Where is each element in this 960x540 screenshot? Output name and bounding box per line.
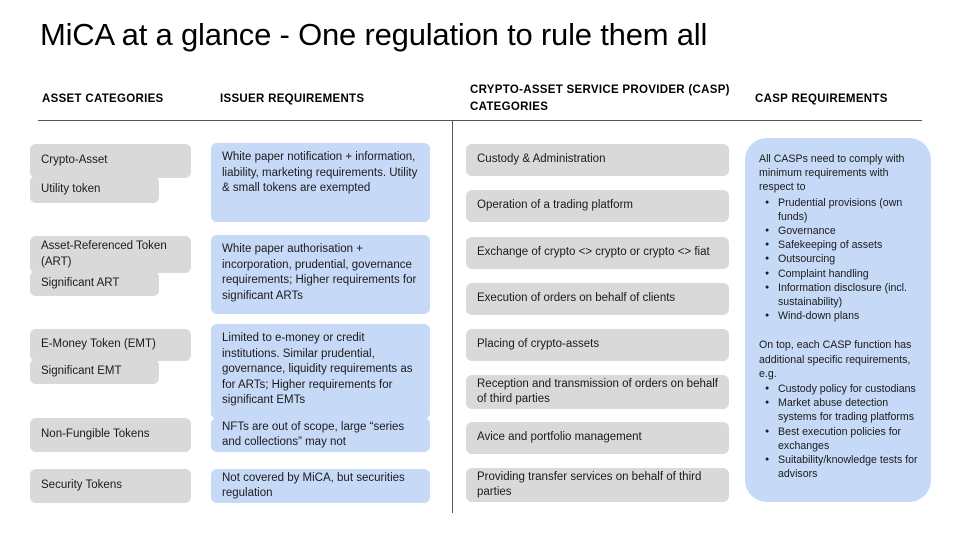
list-item: Best execution policies for exchanges bbox=[778, 425, 922, 453]
issuer-requirement-box[interactable]: Not covered by MiCA, but securities regu… bbox=[211, 469, 430, 503]
casp-category-label: Providing transfer services on behalf of… bbox=[477, 470, 718, 501]
list-item: Outsourcing bbox=[778, 252, 922, 266]
asset-subcategory-label: Significant EMT bbox=[41, 364, 122, 380]
casp-requirements-panel[interactable]: All CASPs need to comply with minimum re… bbox=[745, 138, 931, 502]
casp-category-label: Reception and transmission of orders on … bbox=[477, 377, 718, 408]
asset-category-main-box[interactable]: E-Money Token (EMT) bbox=[30, 329, 191, 361]
asset-category-main-box[interactable]: Security Tokens bbox=[30, 469, 191, 503]
horizontal-divider bbox=[38, 120, 922, 121]
asset-subcategory-label: Significant ART bbox=[41, 276, 119, 292]
issuer-requirement-box[interactable]: Limited to e-money or credit institution… bbox=[211, 324, 430, 419]
list-item: Safekeeping of assets bbox=[778, 238, 922, 252]
list-item: Market abuse detection systems for tradi… bbox=[778, 396, 922, 424]
casp-category-label: Avice and portfolio management bbox=[477, 430, 642, 446]
casp-category-box[interactable]: Providing transfer services on behalf of… bbox=[466, 468, 729, 502]
casp-category-box[interactable]: Operation of a trading platform bbox=[466, 190, 729, 222]
issuer-requirement-text: Not covered by MiCA, but securities regu… bbox=[222, 471, 419, 502]
casp-requirements-bullets-2: Custody policy for custodians Market abu… bbox=[759, 382, 922, 481]
list-item: Suitability/knowledge tests for advisors bbox=[778, 453, 922, 481]
list-item: Complaint handling bbox=[778, 267, 922, 281]
slide-canvas: MiCA at a glance - One regulation to rul… bbox=[0, 0, 960, 540]
casp-category-box[interactable]: Execution of orders on behalf of clients bbox=[466, 283, 729, 315]
casp-category-box[interactable]: Placing of crypto-assets bbox=[466, 329, 729, 361]
list-item: Custody policy for custodians bbox=[778, 382, 922, 396]
casp-requirements-lead-2: On top, each CASP function has additiona… bbox=[759, 338, 922, 381]
issuer-requirement-text: White paper notification + information, … bbox=[222, 150, 419, 197]
list-item: Prudential provisions (own funds) bbox=[778, 196, 922, 224]
asset-category-main-box[interactable]: Asset-Referenced Token (ART) bbox=[30, 236, 191, 273]
casp-category-box[interactable]: Reception and transmission of orders on … bbox=[466, 375, 729, 409]
list-item: Wind-down plans bbox=[778, 309, 922, 323]
asset-category-label: Asset-Referenced Token (ART) bbox=[41, 239, 180, 270]
asset-category-label: Crypto-Asset bbox=[41, 153, 107, 169]
casp-category-label: Placing of crypto-assets bbox=[477, 337, 599, 353]
list-item: Information disclosure (incl. sustainabi… bbox=[778, 281, 922, 309]
issuer-requirement-box[interactable]: NFTs are out of scope, large “series and… bbox=[211, 418, 430, 452]
column-header-asset-categories: ASSET CATEGORIES bbox=[42, 91, 212, 108]
casp-category-label: Exchange of crypto <> crypto or crypto <… bbox=[477, 245, 710, 261]
column-header-casp-categories: CRYPTO-ASSET SERVICE PROVIDER (CASP) CAT… bbox=[470, 82, 735, 116]
vertical-divider bbox=[452, 121, 453, 513]
asset-subcategory-box[interactable]: Utility token bbox=[30, 176, 159, 203]
asset-category-main-box[interactable]: Non-Fungible Tokens bbox=[30, 418, 191, 452]
casp-category-label: Operation of a trading platform bbox=[477, 198, 633, 214]
asset-subcategory-label: Utility token bbox=[41, 182, 100, 198]
casp-category-label: Execution of orders on behalf of clients bbox=[477, 291, 675, 307]
casp-category-label: Custody & Administration bbox=[477, 152, 605, 168]
casp-requirements-bullets-1: Prudential provisions (own funds) Govern… bbox=[759, 196, 922, 324]
casp-category-box[interactable]: Exchange of crypto <> crypto or crypto <… bbox=[466, 237, 729, 269]
asset-category-label: Non-Fungible Tokens bbox=[41, 427, 149, 443]
column-header-issuer-requirements: ISSUER REQUIREMENTS bbox=[220, 91, 420, 108]
issuer-requirement-box[interactable]: White paper notification + information, … bbox=[211, 143, 430, 222]
page-title: MiCA at a glance - One regulation to rul… bbox=[40, 16, 920, 54]
asset-category-main-box[interactable]: Crypto-Asset bbox=[30, 144, 191, 178]
asset-category-label: Security Tokens bbox=[41, 478, 122, 494]
asset-subcategory-box[interactable]: Significant EMT bbox=[30, 359, 159, 384]
column-header-casp-requirements: CASP REQUIREMENTS bbox=[755, 91, 935, 108]
list-item: Governance bbox=[778, 224, 922, 238]
issuer-requirement-box[interactable]: White paper authorisation + incorporatio… bbox=[211, 235, 430, 314]
issuer-requirement-text: White paper authorisation + incorporatio… bbox=[222, 242, 419, 304]
asset-subcategory-box[interactable]: Significant ART bbox=[30, 271, 159, 296]
casp-category-box[interactable]: Avice and portfolio management bbox=[466, 422, 729, 454]
issuer-requirement-text: Limited to e-money or credit institution… bbox=[222, 331, 419, 409]
asset-category-label: E-Money Token (EMT) bbox=[41, 337, 156, 353]
issuer-requirement-text: NFTs are out of scope, large “series and… bbox=[222, 420, 419, 451]
casp-category-box[interactable]: Custody & Administration bbox=[466, 144, 729, 176]
casp-requirements-lead-1: All CASPs need to comply with minimum re… bbox=[759, 152, 922, 195]
